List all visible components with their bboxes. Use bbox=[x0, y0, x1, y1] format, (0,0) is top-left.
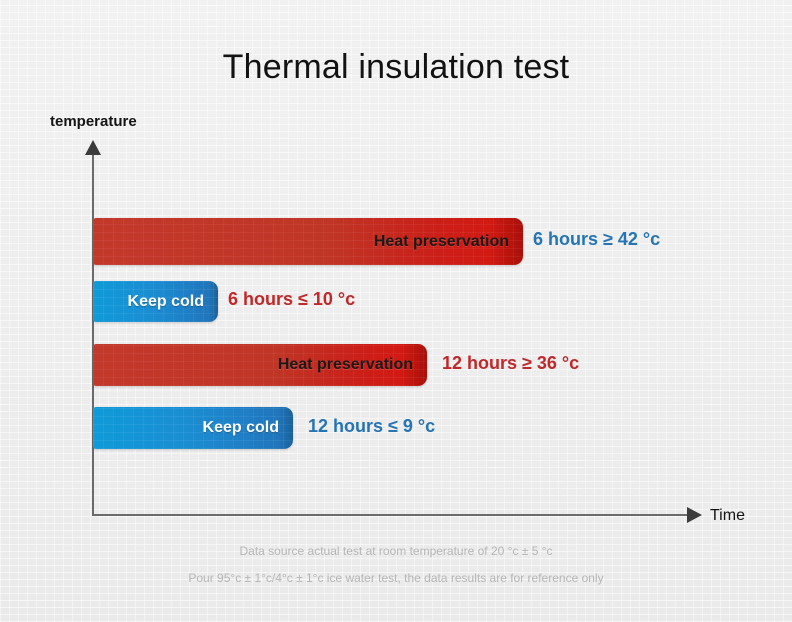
bar-heat-preservation-6h: Heat preservation bbox=[93, 218, 523, 265]
bar-keep-cold-6h: Keep cold bbox=[93, 281, 218, 322]
bar-value-heat-preservation-12h: 12 hours ≥ 36 °c bbox=[442, 353, 579, 374]
footnote-data-source: Data source actual test at room temperat… bbox=[0, 544, 792, 558]
bar-label-keep-cold-6h: Keep cold bbox=[128, 293, 204, 311]
x-axis-label: Time bbox=[710, 507, 745, 525]
thermal-insulation-chart: Thermal insulation test temperature Time… bbox=[0, 0, 792, 622]
y-axis-line bbox=[92, 152, 94, 516]
footnote-test-method: Pour 95°c ± 1°c/4°c ± 1°c ice water test… bbox=[0, 571, 792, 585]
bar-label-heat-preservation-12h: Heat preservation bbox=[278, 356, 413, 374]
bar-label-heat-preservation-6h: Heat preservation bbox=[374, 233, 509, 251]
bar-label-keep-cold-12h: Keep cold bbox=[203, 419, 279, 437]
x-axis-line bbox=[92, 514, 692, 516]
bar-heat-preservation-12h: Heat preservation bbox=[93, 344, 427, 386]
bar-keep-cold-12h: Keep cold bbox=[93, 407, 293, 449]
x-axis-arrow-icon bbox=[687, 507, 702, 523]
bar-value-keep-cold-6h: 6 hours ≤ 10 °c bbox=[228, 289, 355, 310]
page-title: Thermal insulation test bbox=[0, 48, 792, 87]
bar-value-heat-preservation-6h: 6 hours ≥ 42 °c bbox=[533, 229, 660, 250]
y-axis-arrow-icon bbox=[85, 140, 101, 155]
y-axis-label: temperature bbox=[50, 113, 137, 130]
bar-value-keep-cold-12h: 12 hours ≤ 9 °c bbox=[308, 416, 435, 437]
